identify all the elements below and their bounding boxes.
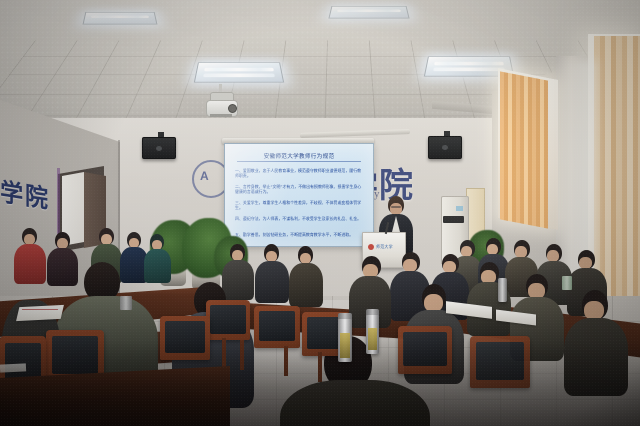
- paper-1[interactable]: [16, 305, 64, 321]
- paper-1-text: [22, 309, 58, 310]
- wall-speaker-right: [428, 136, 462, 159]
- projector-lens: [228, 104, 237, 113]
- presenter-glasses: [391, 206, 401, 208]
- chair-leg-3: [284, 346, 288, 376]
- thermos-1-lid: [338, 313, 352, 319]
- university-emblem-letter: A: [200, 169, 209, 183]
- chair-7[interactable]: [470, 336, 530, 388]
- projection-screen: 安徽师范大学教师行为规范 一、爱国敬业，忠于人民教育事业，模范遵守教师职业道德规…: [224, 143, 374, 247]
- meeting-room-photo: 学院 学院 ersity A 安徽师范大学教师行为规范 一、爱国敬业，忠于人民教…: [0, 0, 640, 426]
- thermos-2[interactable]: [366, 314, 379, 354]
- chair-8[interactable]: [398, 326, 452, 374]
- projector-base: [210, 114, 232, 117]
- chair-leg-2: [240, 340, 244, 370]
- curtain-far: [500, 71, 548, 228]
- cup-1[interactable]: [562, 276, 572, 290]
- cup-2[interactable]: [120, 296, 132, 310]
- wall-speaker-left: [142, 137, 176, 159]
- chair-leg-1: [222, 338, 226, 368]
- left-wall-signage-text: 学院: [0, 172, 50, 216]
- ceiling-light-panel-4: [328, 6, 409, 18]
- chair-leg-4: [318, 352, 322, 382]
- ceiling-light-panel-1: [194, 62, 284, 82]
- podium-logo-text: 师范大学: [376, 244, 393, 250]
- paper-4[interactable]: [0, 363, 26, 372]
- air-conditioner-display: [456, 206, 463, 211]
- ceiling-light-panel-3: [83, 12, 158, 24]
- podium-logo-icon: [368, 244, 374, 250]
- chair-4[interactable]: [160, 316, 210, 360]
- thermos-1[interactable]: [338, 318, 352, 362]
- thermos-2-lid: [366, 309, 379, 315]
- chair-1[interactable]: [206, 300, 250, 340]
- air-conditioner-vent: [443, 216, 464, 223]
- thermos-3[interactable]: [498, 278, 507, 302]
- screen-glare: [225, 144, 373, 246]
- chair-2[interactable]: [254, 306, 300, 348]
